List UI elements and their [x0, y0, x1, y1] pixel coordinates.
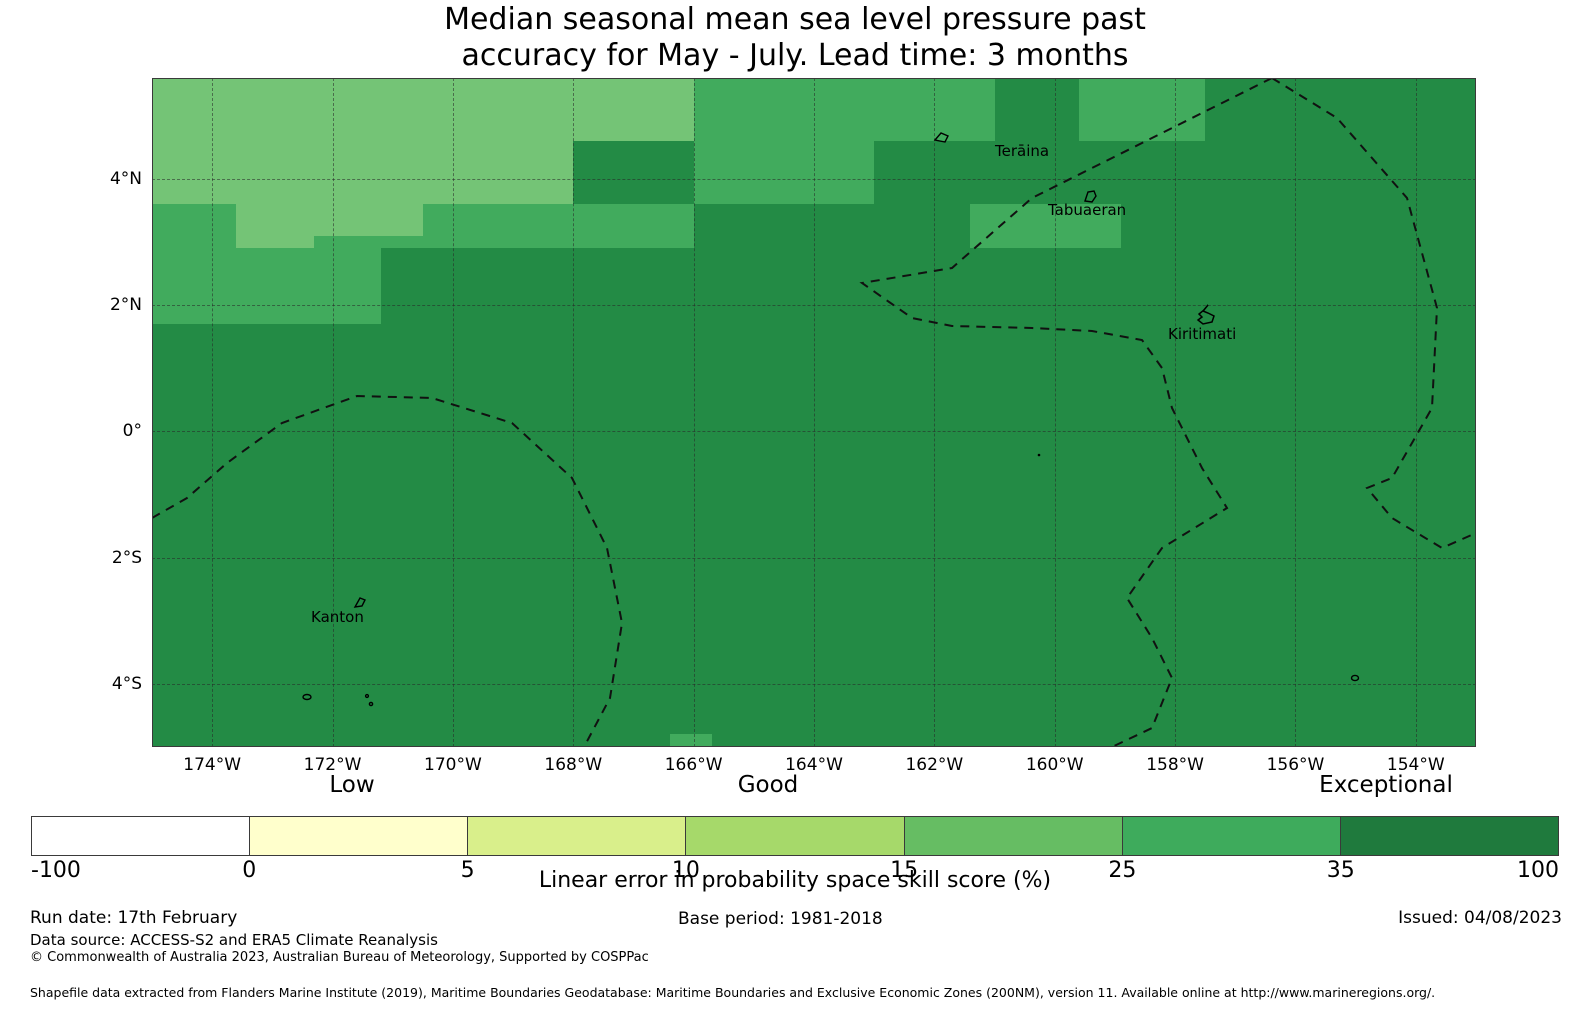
map-plot-area[interactable]: Terāina Tabuaeran Kiritimati Kanton	[152, 78, 1476, 747]
colorbar-quality-label: Low	[329, 772, 374, 798]
heatmap-cell	[995, 78, 1079, 141]
footer-shapefile-attribution: Shapefile data extracted from Flanders M…	[30, 985, 1435, 1000]
heatmap-cell	[573, 78, 693, 141]
colorbar-axis-label: Linear error in probability space skill …	[0, 868, 1590, 893]
island-label-kanton: Kanton	[311, 608, 364, 626]
heatmap-cell	[381, 248, 1476, 324]
footer-base-period: Base period: 1981-2018	[678, 909, 883, 929]
colorbar-segment	[32, 817, 249, 855]
page-title: Median seasonal mean sea level pressure …	[0, 2, 1590, 74]
y-tick-label: 4°S	[112, 674, 142, 694]
y-tick-label: 4°N	[110, 169, 142, 189]
colorbar-segment	[1122, 817, 1340, 855]
heatmap-cell	[314, 204, 422, 236]
colorbar-segment	[249, 817, 467, 855]
colorbar-segment	[685, 817, 903, 855]
minor-islet-shapes	[292, 618, 532, 747]
island-label-tabuaeran: Tabuaeran	[1048, 201, 1126, 219]
island-label-kiritimati: Kiritimati	[1168, 325, 1236, 343]
teraina-island-shape	[932, 130, 954, 146]
x-tick-label: 160°W	[1026, 755, 1084, 775]
x-tick-label: 168°W	[544, 755, 602, 775]
colorbar-segment	[904, 817, 1122, 855]
x-tick-label: 166°W	[665, 755, 723, 775]
heatmap-cell	[152, 78, 573, 204]
x-tick-label: 156°W	[1267, 755, 1325, 775]
x-tick-label: 158°W	[1146, 755, 1204, 775]
center-dot-islet	[1034, 450, 1044, 460]
heatmap-cell	[314, 236, 422, 249]
y-tick-label: 2°S	[112, 548, 142, 568]
island-label-teraina: Terāina	[995, 142, 1049, 160]
footer-issued-date: Issued: 04/08/2023	[1398, 908, 1562, 928]
heatmap-cell	[670, 734, 712, 747]
y-tick-label: 2°N	[110, 295, 142, 315]
colorbar-gradient	[31, 816, 1559, 856]
heatmap-cell	[1079, 78, 1205, 141]
x-tick-label: 170°W	[424, 755, 482, 775]
y-tick-label: 0°	[123, 421, 142, 441]
heatmap-cell	[152, 248, 381, 324]
colorbar-segment	[1340, 817, 1558, 855]
heatmap-cell	[423, 204, 694, 248]
x-tick-label: 174°W	[183, 755, 241, 775]
heatmap-cell	[694, 78, 875, 204]
colorbar-quality-label: Good	[738, 772, 799, 798]
heatmap-cell	[236, 204, 314, 248]
heatmap-cell	[152, 204, 236, 248]
colorbar-segment	[467, 817, 685, 855]
x-tick-label: 162°W	[905, 755, 963, 775]
colorbar[interactable]	[31, 816, 1559, 856]
eastern-islet-shape	[1347, 670, 1363, 686]
heatmap-cell	[1205, 78, 1476, 141]
colorbar-quality-label: Exceptional	[1319, 772, 1453, 798]
footer-run-date: Run date: 17th February	[30, 908, 237, 928]
footer-copyright: © Commonwealth of Australia 2023, Austra…	[30, 950, 649, 965]
footer-data-source: Data source: ACCESS-S2 and ERA5 Climate …	[30, 931, 438, 949]
